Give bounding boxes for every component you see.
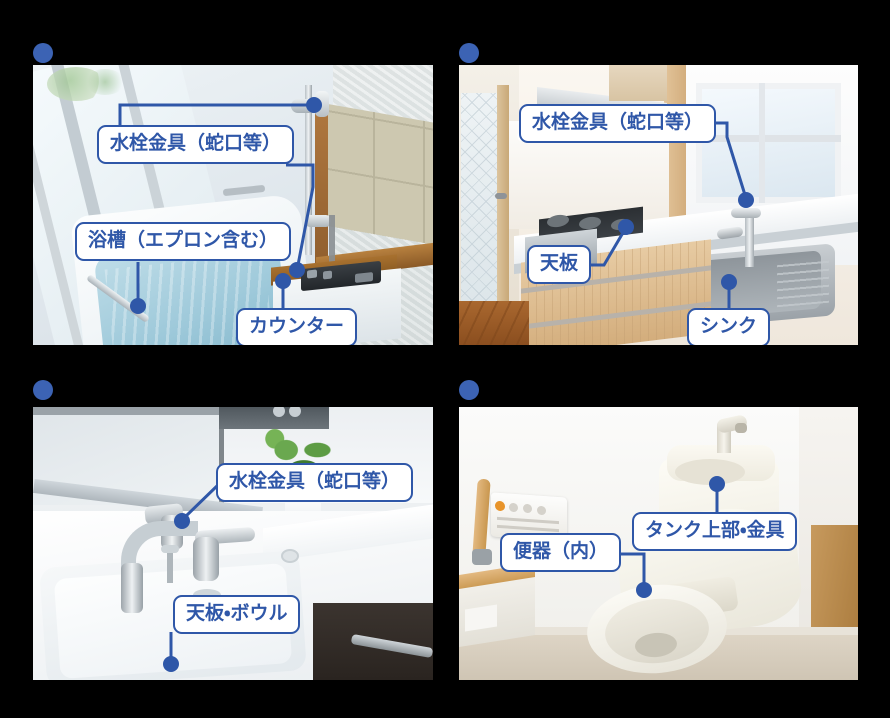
bullet-marker-kitchen: [459, 43, 479, 63]
anchor-dot-basin-faucet: [174, 513, 190, 529]
anchor-dot-bath-faucet: [306, 97, 322, 113]
photo-bathroom: 水栓金具（蛇口等） 浴槽（エプロン含む） カウンター: [33, 65, 433, 345]
label-basin-bowl[interactable]: 天板・ボウル: [173, 595, 300, 634]
leader-lines-washbasin: [33, 407, 433, 680]
anchor-dot-basin-bowl: [163, 656, 179, 672]
anchor-dot-toilet-bowl: [636, 582, 652, 598]
anchor-dot-kitchen-faucet: [738, 192, 754, 208]
label-kitchen-faucet[interactable]: 水栓金具（蛇口等）: [519, 104, 716, 143]
label-kitchen-sink[interactable]: シンク: [687, 308, 770, 345]
anchor-dot-kitchen-countertop: [618, 219, 634, 235]
label-kitchen-countertop[interactable]: 天板: [527, 245, 591, 284]
panel-toilet: タンク上部・金具 便器（内）: [445, 359, 890, 718]
photo-washbasin: 水栓金具（蛇口等） 天板・ボウル: [33, 407, 433, 680]
label-basin-faucet[interactable]: 水栓金具（蛇口等）: [216, 463, 413, 502]
bullet-marker-toilet: [459, 380, 479, 400]
label-bath-counter[interactable]: カウンター: [236, 308, 357, 345]
photo-toilet: タンク上部・金具 便器（内）: [459, 407, 858, 680]
label-toilet-bowl[interactable]: 便器（内）: [500, 533, 621, 572]
leader-lines-bathroom: [33, 65, 433, 345]
anchor-dot-bath-counter-upper: [289, 262, 305, 278]
panel-bathroom: 水栓金具（蛇口等） 浴槽（エプロン含む） カウンター: [0, 0, 445, 359]
anchor-dot-kitchen-sink: [721, 274, 737, 290]
label-toilet-tank[interactable]: タンク上部・金具: [632, 512, 797, 551]
panel-kitchen: 水栓金具（蛇口等） 天板 シンク: [445, 0, 890, 359]
label-bath-faucet[interactable]: 水栓金具（蛇口等）: [97, 125, 294, 164]
anchor-dot-bath-counter: [275, 273, 291, 289]
label-bath-tub[interactable]: 浴槽（エプロン含む）: [75, 222, 291, 261]
photo-kitchen: 水栓金具（蛇口等） 天板 シンク: [459, 65, 858, 345]
bullet-marker-bathroom: [33, 43, 53, 63]
anchor-dot-bath-tub: [130, 298, 146, 314]
anchor-dot-toilet-tank: [709, 476, 725, 492]
panel-washbasin: 水栓金具（蛇口等） 天板・ボウル: [0, 359, 445, 718]
illustration-stage: 水栓金具（蛇口等） 浴槽（エプロン含む） カウンター: [0, 0, 890, 718]
bullet-marker-washbasin: [33, 380, 53, 400]
